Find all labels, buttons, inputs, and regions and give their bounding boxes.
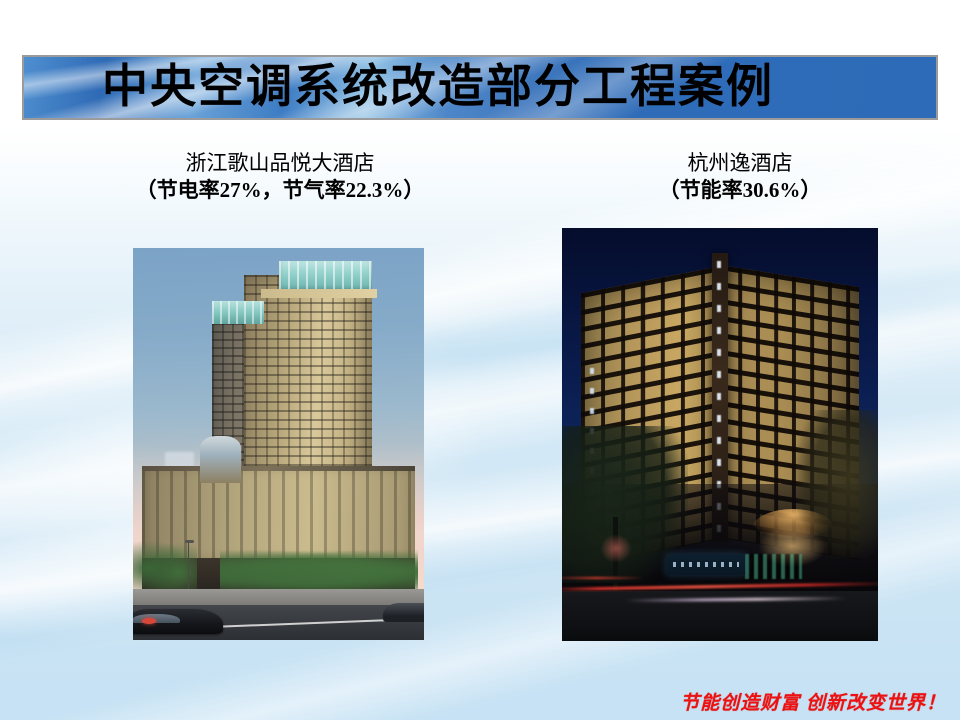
case-stats-right: （节能率30.6%） bbox=[610, 177, 870, 204]
photo-left-street-trees bbox=[220, 546, 418, 593]
footer-slogan: 节能创造财富 创新改变世界！ bbox=[680, 688, 946, 715]
photo-left-sidewalk bbox=[133, 589, 424, 605]
case-caption-left: 浙江歌山品悦大酒店 （节电率27%，节气率22.3%） bbox=[130, 150, 430, 204]
case-name-left: 浙江歌山品悦大酒店 bbox=[130, 150, 430, 177]
photo-right-street-light-glow bbox=[600, 534, 632, 563]
case-stats-left: （节电率27%，节气率22.3%） bbox=[130, 177, 430, 204]
page-title: 中央空调系统改造部分工程案例 bbox=[102, 64, 774, 110]
photo-right-lit-hedge bbox=[745, 554, 802, 579]
photo-left-glass-crown-secondary bbox=[212, 301, 264, 325]
photo-left-car-right bbox=[383, 603, 424, 623]
slide-canvas: 中央空调系统改造部分工程案例 浙江歌山品悦大酒店 （节电率27%，节气率22.3… bbox=[0, 0, 960, 720]
case-photo-right bbox=[562, 228, 878, 641]
photo-left-cap-band bbox=[261, 289, 377, 298]
photo-right-light-trail-upper bbox=[562, 577, 644, 579]
case-name-right: 杭州逸酒店 bbox=[610, 150, 870, 177]
case-photo-left bbox=[133, 248, 424, 640]
photo-left-glass-crown bbox=[279, 261, 372, 292]
case-caption-right: 杭州逸酒店 （节能率30.6%） bbox=[610, 150, 870, 204]
photo-left-corner-turret bbox=[200, 436, 241, 483]
title-banner: 中央空调系统改造部分工程案例 bbox=[22, 55, 938, 120]
photo-right-tree-right bbox=[796, 410, 878, 559]
